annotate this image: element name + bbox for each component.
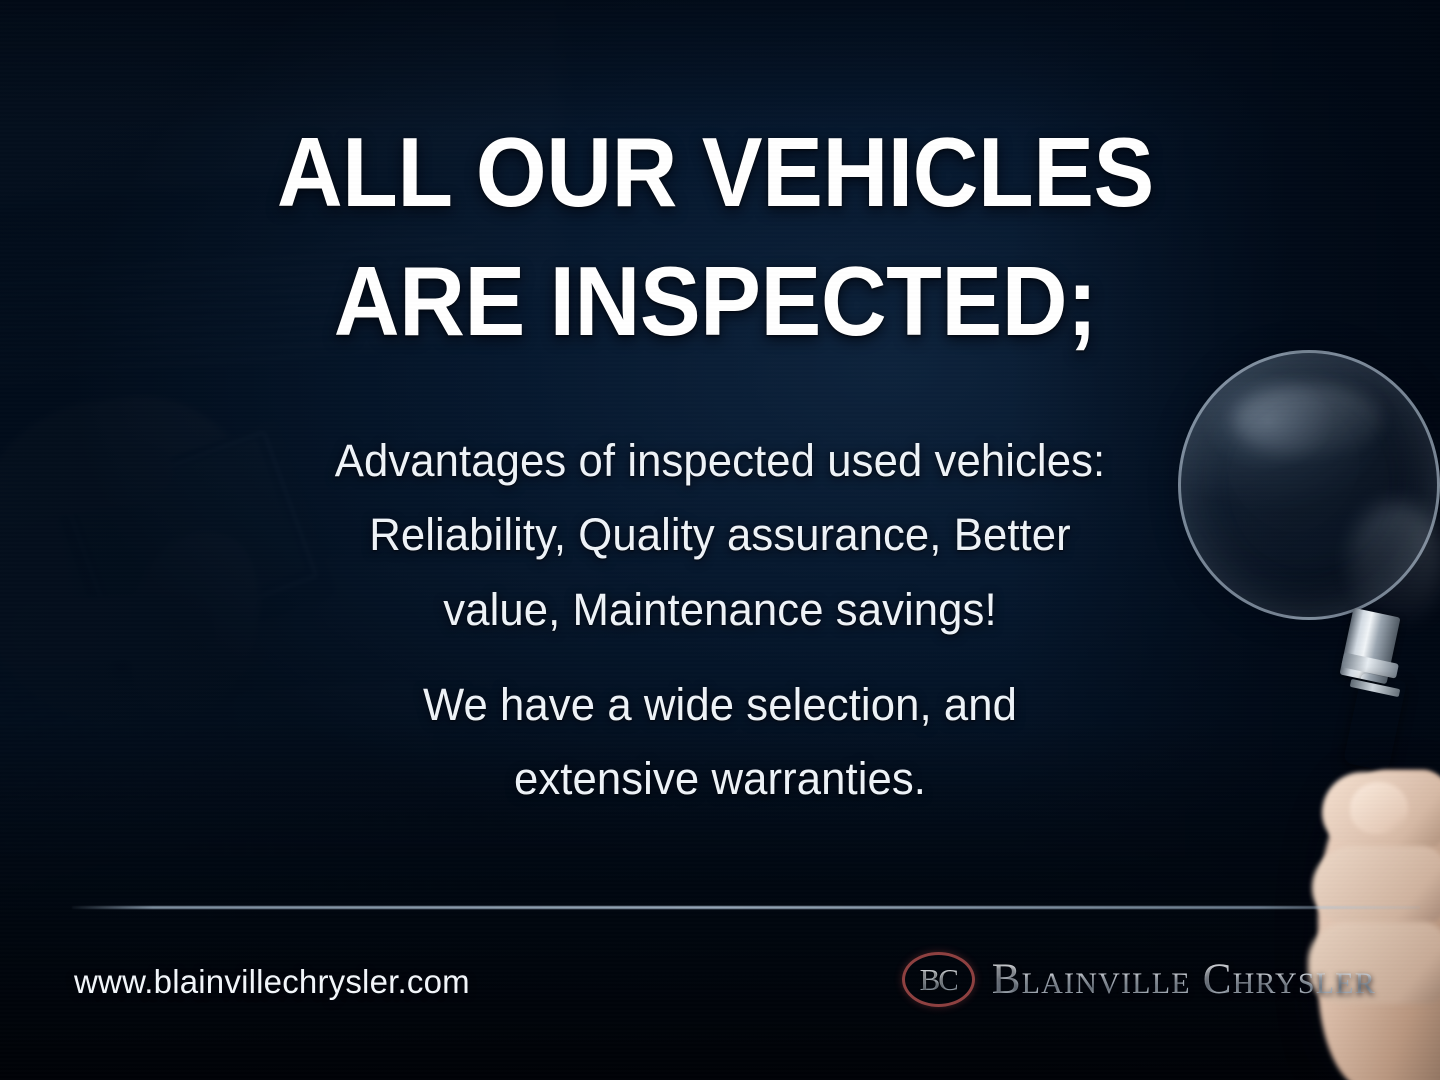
brand-lockup[interactable]: BC Blainville Chrysler [902,952,1376,1007]
website-url[interactable]: www.blainvillechrysler.com [74,963,470,1001]
monogram-letters: BC [920,962,957,998]
footer-divider [72,906,1420,909]
body-paragraph-selection: We have a wide selection, and extensive … [22,668,1419,817]
headline: ALL OUR VEHICLES ARE INSPECTED; [50,108,1389,367]
brand-monogram-icon: BC [902,952,975,1007]
slide-content: ALL OUR VEHICLES ARE INSPECTED; Advantag… [0,0,1440,1080]
promo-slide: ALL OUR VEHICLES ARE INSPECTED; Advantag… [0,0,1440,1080]
body-paragraph-advantages: Advantages of inspected used vehicles: R… [22,424,1419,647]
brand-name: Blainville Chrysler [992,955,1376,1004]
